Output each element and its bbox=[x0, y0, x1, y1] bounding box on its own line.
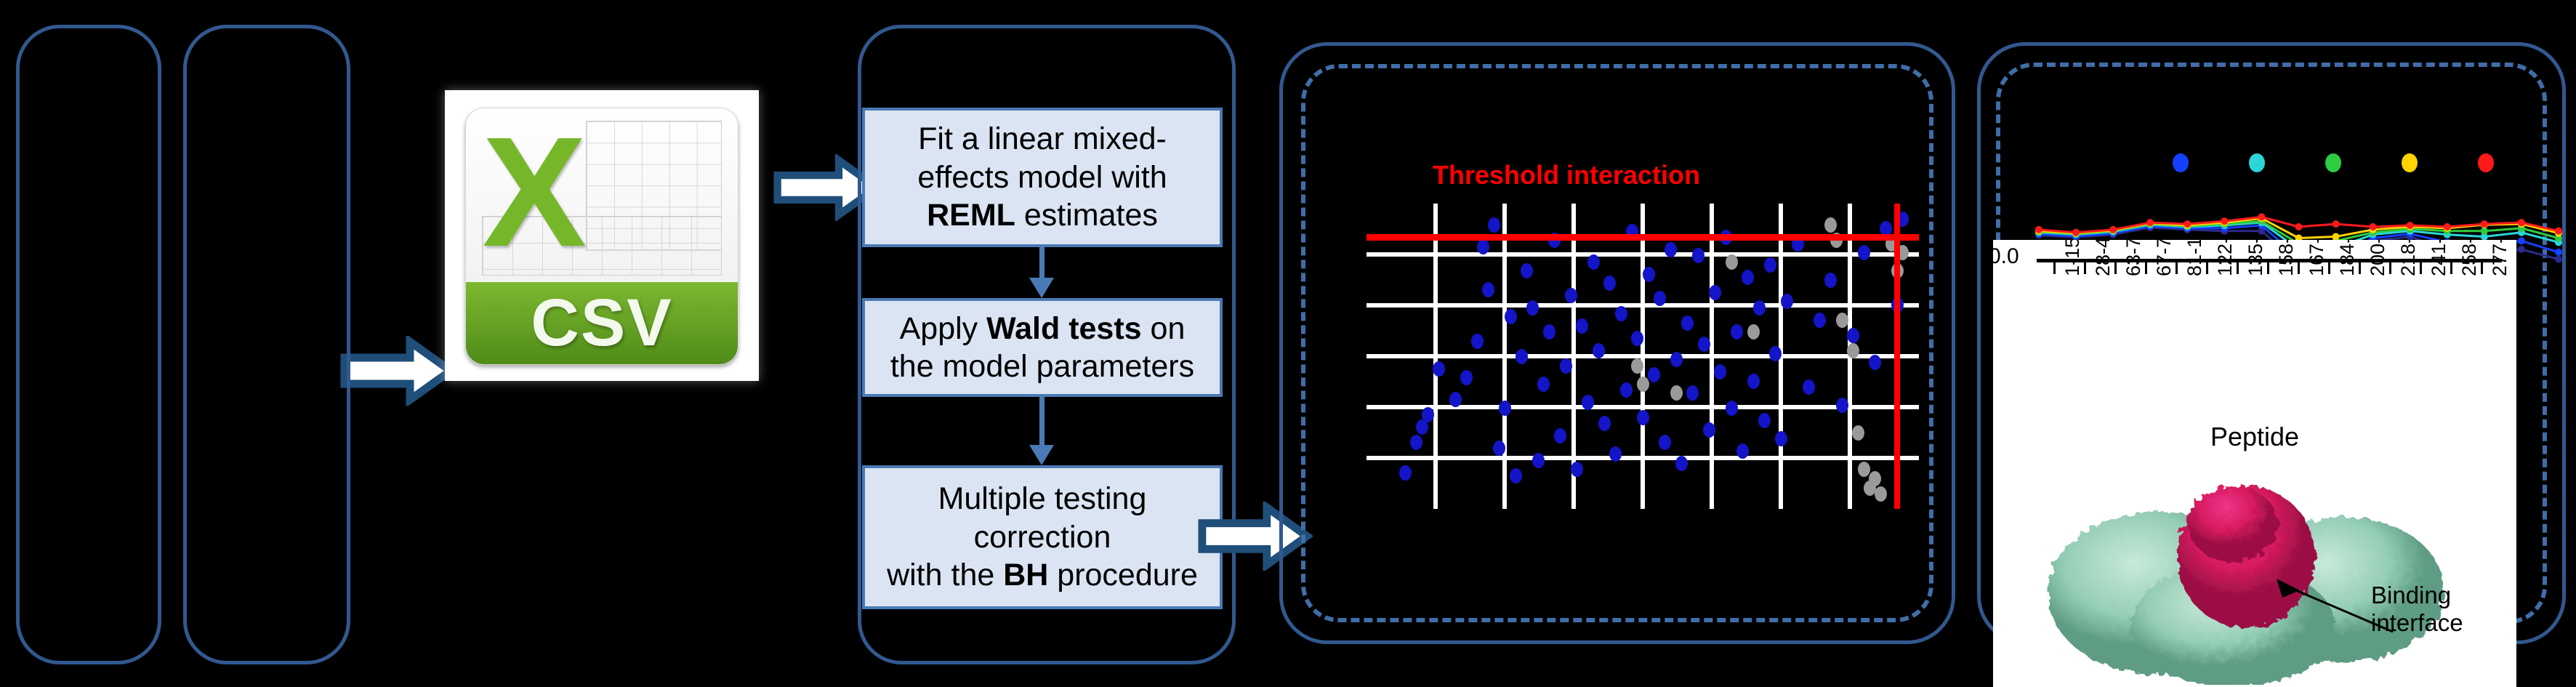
volcano-scatter-plot bbox=[1367, 204, 1919, 509]
scatter-point bbox=[1582, 395, 1594, 410]
scatter-point bbox=[1726, 254, 1738, 270]
scatter-point bbox=[1460, 370, 1473, 385]
scatter-point bbox=[1764, 257, 1776, 273]
peptide-tick bbox=[2237, 262, 2239, 274]
scatter-point bbox=[1505, 309, 1517, 324]
scatter-point bbox=[1433, 361, 1445, 377]
mt-line1: Multiple testing bbox=[938, 481, 1147, 516]
peptide-tick-label: 81-101 bbox=[2183, 240, 2206, 276]
scatter-point bbox=[1659, 435, 1671, 450]
line-marker bbox=[2035, 226, 2042, 233]
protein-surface-svg bbox=[2015, 455, 2495, 685]
scatter-point bbox=[1675, 456, 1688, 471]
peptide-tick bbox=[2206, 262, 2208, 274]
peptide-tick bbox=[2328, 262, 2330, 274]
peptide-tick bbox=[2359, 262, 2361, 274]
mt-line3-post: procedure bbox=[1048, 558, 1198, 592]
scatter-point bbox=[1753, 300, 1766, 316]
scatter-point bbox=[1615, 306, 1627, 321]
peptide-tick bbox=[2298, 262, 2300, 274]
scatter-point bbox=[1714, 364, 1726, 379]
peptide-tick-label: 122-129 bbox=[2214, 240, 2237, 276]
scatter-point bbox=[1620, 382, 1633, 398]
scatter-point bbox=[1593, 343, 1605, 358]
gridline-horizontal bbox=[1367, 252, 1919, 257]
fit-model-reml: REML bbox=[927, 198, 1015, 233]
peptide-tick bbox=[2145, 262, 2147, 274]
scatter-point bbox=[1587, 254, 1600, 270]
legend-red-icon bbox=[2478, 153, 2494, 172]
scatter-point bbox=[1709, 285, 1721, 300]
line-marker bbox=[2370, 223, 2377, 230]
scatter-point bbox=[1758, 413, 1771, 428]
scatter-point bbox=[1399, 465, 1412, 481]
scatter-point bbox=[1637, 410, 1649, 425]
scatter-point bbox=[1747, 374, 1760, 389]
scatter-point bbox=[1648, 367, 1660, 382]
scatter-point bbox=[1847, 328, 1859, 343]
arrow-input-to-csv bbox=[340, 336, 456, 406]
scatter-point bbox=[1824, 273, 1837, 288]
line-marker bbox=[2183, 220, 2191, 228]
scatter-point bbox=[1836, 398, 1848, 413]
scatter-point bbox=[1670, 352, 1683, 367]
line-marker bbox=[2481, 228, 2488, 235]
peptide-tick bbox=[2114, 262, 2117, 274]
scatter-point bbox=[1858, 245, 1870, 260]
scatter-point bbox=[1692, 248, 1704, 263]
scatter-point bbox=[1736, 443, 1749, 459]
line-marker bbox=[2555, 249, 2562, 256]
peptide-tick bbox=[2267, 262, 2269, 274]
peptide-tick bbox=[2389, 262, 2391, 274]
stage-csv-panel bbox=[183, 25, 350, 664]
peptide-tick bbox=[2420, 262, 2422, 274]
peptide-tick bbox=[2481, 262, 2483, 274]
connector-wald-to-bh bbox=[1039, 397, 1045, 446]
legend-green-icon bbox=[2325, 153, 2341, 172]
gridline-horizontal bbox=[1367, 354, 1919, 358]
scatter-point bbox=[1637, 377, 1649, 392]
scatter-point bbox=[1576, 318, 1588, 334]
csv-label-band: CSV bbox=[466, 282, 738, 364]
scatter-point bbox=[1537, 377, 1550, 392]
scatter-point bbox=[1654, 291, 1666, 306]
legend-yellow-icon bbox=[2402, 153, 2418, 172]
scatter-point bbox=[1803, 379, 1815, 395]
binding-interface-label: Binding interface bbox=[2371, 582, 2463, 637]
mt-bh-bold: BH bbox=[1003, 558, 1048, 592]
peptide-tick bbox=[2175, 262, 2178, 274]
protein-structure-image: Binding interface bbox=[2015, 455, 2495, 685]
scatter-point bbox=[1499, 401, 1511, 416]
line-marker bbox=[2555, 256, 2562, 263]
scatter-point bbox=[1554, 428, 1566, 443]
peptide-tick bbox=[2450, 262, 2452, 274]
scatter-point bbox=[1516, 349, 1528, 364]
peptide-tick-label: 1-15 bbox=[2061, 240, 2084, 276]
scatter-point bbox=[1681, 316, 1694, 331]
scatter-point bbox=[1643, 267, 1655, 282]
scatter-point bbox=[1742, 270, 1754, 285]
legend-blue-icon bbox=[2173, 153, 2189, 172]
scatter-point bbox=[1747, 324, 1760, 340]
fit-model-line2: effects model with bbox=[917, 160, 1167, 195]
csv-label-text: CSV bbox=[531, 285, 672, 361]
peptide-tick bbox=[2084, 262, 2086, 274]
peptide-tick-label: 258-266 bbox=[2458, 240, 2481, 276]
line-marker bbox=[2407, 222, 2414, 229]
line-marker bbox=[2072, 229, 2080, 236]
peptide-tick-label: 200-214 bbox=[2367, 240, 2389, 276]
fit-model-box: Fit a linear mixed- effects model with R… bbox=[862, 108, 1223, 247]
scatter-point bbox=[1726, 401, 1738, 416]
scatter-point bbox=[1631, 358, 1643, 374]
scatter-point bbox=[1521, 263, 1533, 278]
multiple-testing-box: Multiple testing correction with the BH … bbox=[862, 465, 1223, 609]
scatter-point bbox=[1422, 407, 1434, 422]
scatter-point bbox=[1526, 300, 1539, 316]
line-marker bbox=[2221, 217, 2228, 225]
scatter-point bbox=[1814, 313, 1826, 328]
line-marker bbox=[2481, 220, 2488, 228]
scatter-point bbox=[1598, 416, 1611, 431]
scatter-point bbox=[1698, 337, 1710, 352]
scatter-point bbox=[1852, 425, 1864, 441]
scatter-point bbox=[1670, 385, 1683, 401]
excel-x-glyph: X bbox=[482, 113, 580, 193]
scatter-point bbox=[1686, 385, 1699, 401]
peptide-results-card: 0.0 1-1528-4463-7367-7581-101122-129135-… bbox=[1993, 240, 2516, 687]
wald-bold: Wald tests bbox=[986, 311, 1141, 346]
scatter-point bbox=[1488, 217, 1500, 233]
scatter-point bbox=[1560, 358, 1572, 374]
line-marker bbox=[2333, 220, 2340, 228]
line-marker bbox=[2518, 219, 2525, 226]
peptide-tick-label: 167-180 bbox=[2306, 240, 2328, 276]
scatter-point bbox=[1510, 468, 1522, 483]
scatter-point bbox=[1410, 435, 1422, 450]
scatter-point bbox=[1449, 392, 1462, 407]
peptide-tick-label: 63-73 bbox=[2122, 240, 2145, 276]
binding-label-line1: Binding bbox=[2371, 582, 2463, 609]
peptide-tick-label: 184-199 bbox=[2336, 240, 2359, 276]
scatter-point bbox=[1703, 422, 1715, 438]
connector-fit-to-wald bbox=[1039, 247, 1045, 279]
peptide-tick-label: 28-44 bbox=[2092, 240, 2114, 276]
line-marker bbox=[2146, 219, 2154, 226]
scatter-point bbox=[1731, 324, 1743, 340]
threshold-line-horizontal bbox=[1367, 234, 1919, 241]
scatter-point bbox=[1477, 239, 1489, 254]
line-marker bbox=[2258, 213, 2265, 220]
scatter-point bbox=[1603, 276, 1616, 291]
scatter-point bbox=[1875, 486, 1887, 502]
binding-label-line2: interface bbox=[2371, 609, 2463, 637]
legend-cyan-icon bbox=[2249, 153, 2265, 172]
line-marker bbox=[2555, 228, 2562, 235]
gridline-horizontal bbox=[1367, 303, 1919, 308]
wald-line2: the model parameters bbox=[890, 349, 1194, 384]
peptide-axis-title: Peptide bbox=[1993, 422, 2516, 452]
scatter-point bbox=[1781, 294, 1793, 309]
fit-model-line1: Fit a linear mixed- bbox=[918, 121, 1167, 156]
peptide-tick-label: 135-144 bbox=[2245, 240, 2267, 276]
peptide-tick-label: 277-284 bbox=[2489, 240, 2511, 276]
line-marker bbox=[2518, 237, 2525, 244]
mt-line2: correction bbox=[974, 520, 1111, 555]
wald-tests-box: Apply Wald tests on the model parameters bbox=[862, 298, 1223, 397]
line-marker bbox=[2518, 246, 2525, 253]
threshold-line-vertical bbox=[1894, 204, 1900, 509]
wald-line1-post: on bbox=[1142, 311, 1186, 346]
line-marker bbox=[2109, 226, 2117, 233]
scatter-point bbox=[1869, 471, 1881, 486]
peptide-tick bbox=[2053, 262, 2056, 274]
scatter-point bbox=[1471, 334, 1484, 349]
y-axis-first-tick: 0.0 bbox=[1993, 244, 2019, 269]
fit-model-line3-rest: estimates bbox=[1015, 198, 1158, 233]
scatter-point bbox=[1532, 453, 1545, 468]
csv-sheet: X bbox=[466, 108, 738, 282]
scatter-point bbox=[1665, 242, 1677, 257]
threshold-interaction-label: Threshold interaction bbox=[1348, 160, 1784, 190]
peptide-tick-label: 67-75 bbox=[2153, 240, 2175, 276]
scatter-point bbox=[1482, 282, 1494, 297]
csv-card: X CSV bbox=[465, 108, 738, 365]
gridline-horizontal bbox=[1367, 456, 1919, 460]
csv-file-icon: X CSV bbox=[445, 90, 759, 381]
scatter-point bbox=[1775, 431, 1787, 446]
line-marker bbox=[2295, 223, 2303, 230]
scatter-point bbox=[1543, 324, 1555, 340]
mt-line3-pre: with the bbox=[887, 558, 1003, 592]
line-marker bbox=[2444, 223, 2451, 230]
scatter-point bbox=[1836, 313, 1848, 328]
stage-input-panel bbox=[16, 25, 161, 664]
peptide-tick-label: 241-257 bbox=[2428, 240, 2450, 276]
scatter-point bbox=[1858, 462, 1870, 477]
scatter-point bbox=[1571, 462, 1583, 477]
peptide-tick-label: 158-166 bbox=[2275, 240, 2298, 276]
peptide-tick-label: 218-237 bbox=[2397, 240, 2420, 276]
wald-line1-pre: Apply bbox=[900, 311, 987, 346]
scatter-point bbox=[1847, 343, 1859, 358]
scatter-point bbox=[1869, 355, 1881, 370]
scatter-point bbox=[1824, 217, 1837, 233]
